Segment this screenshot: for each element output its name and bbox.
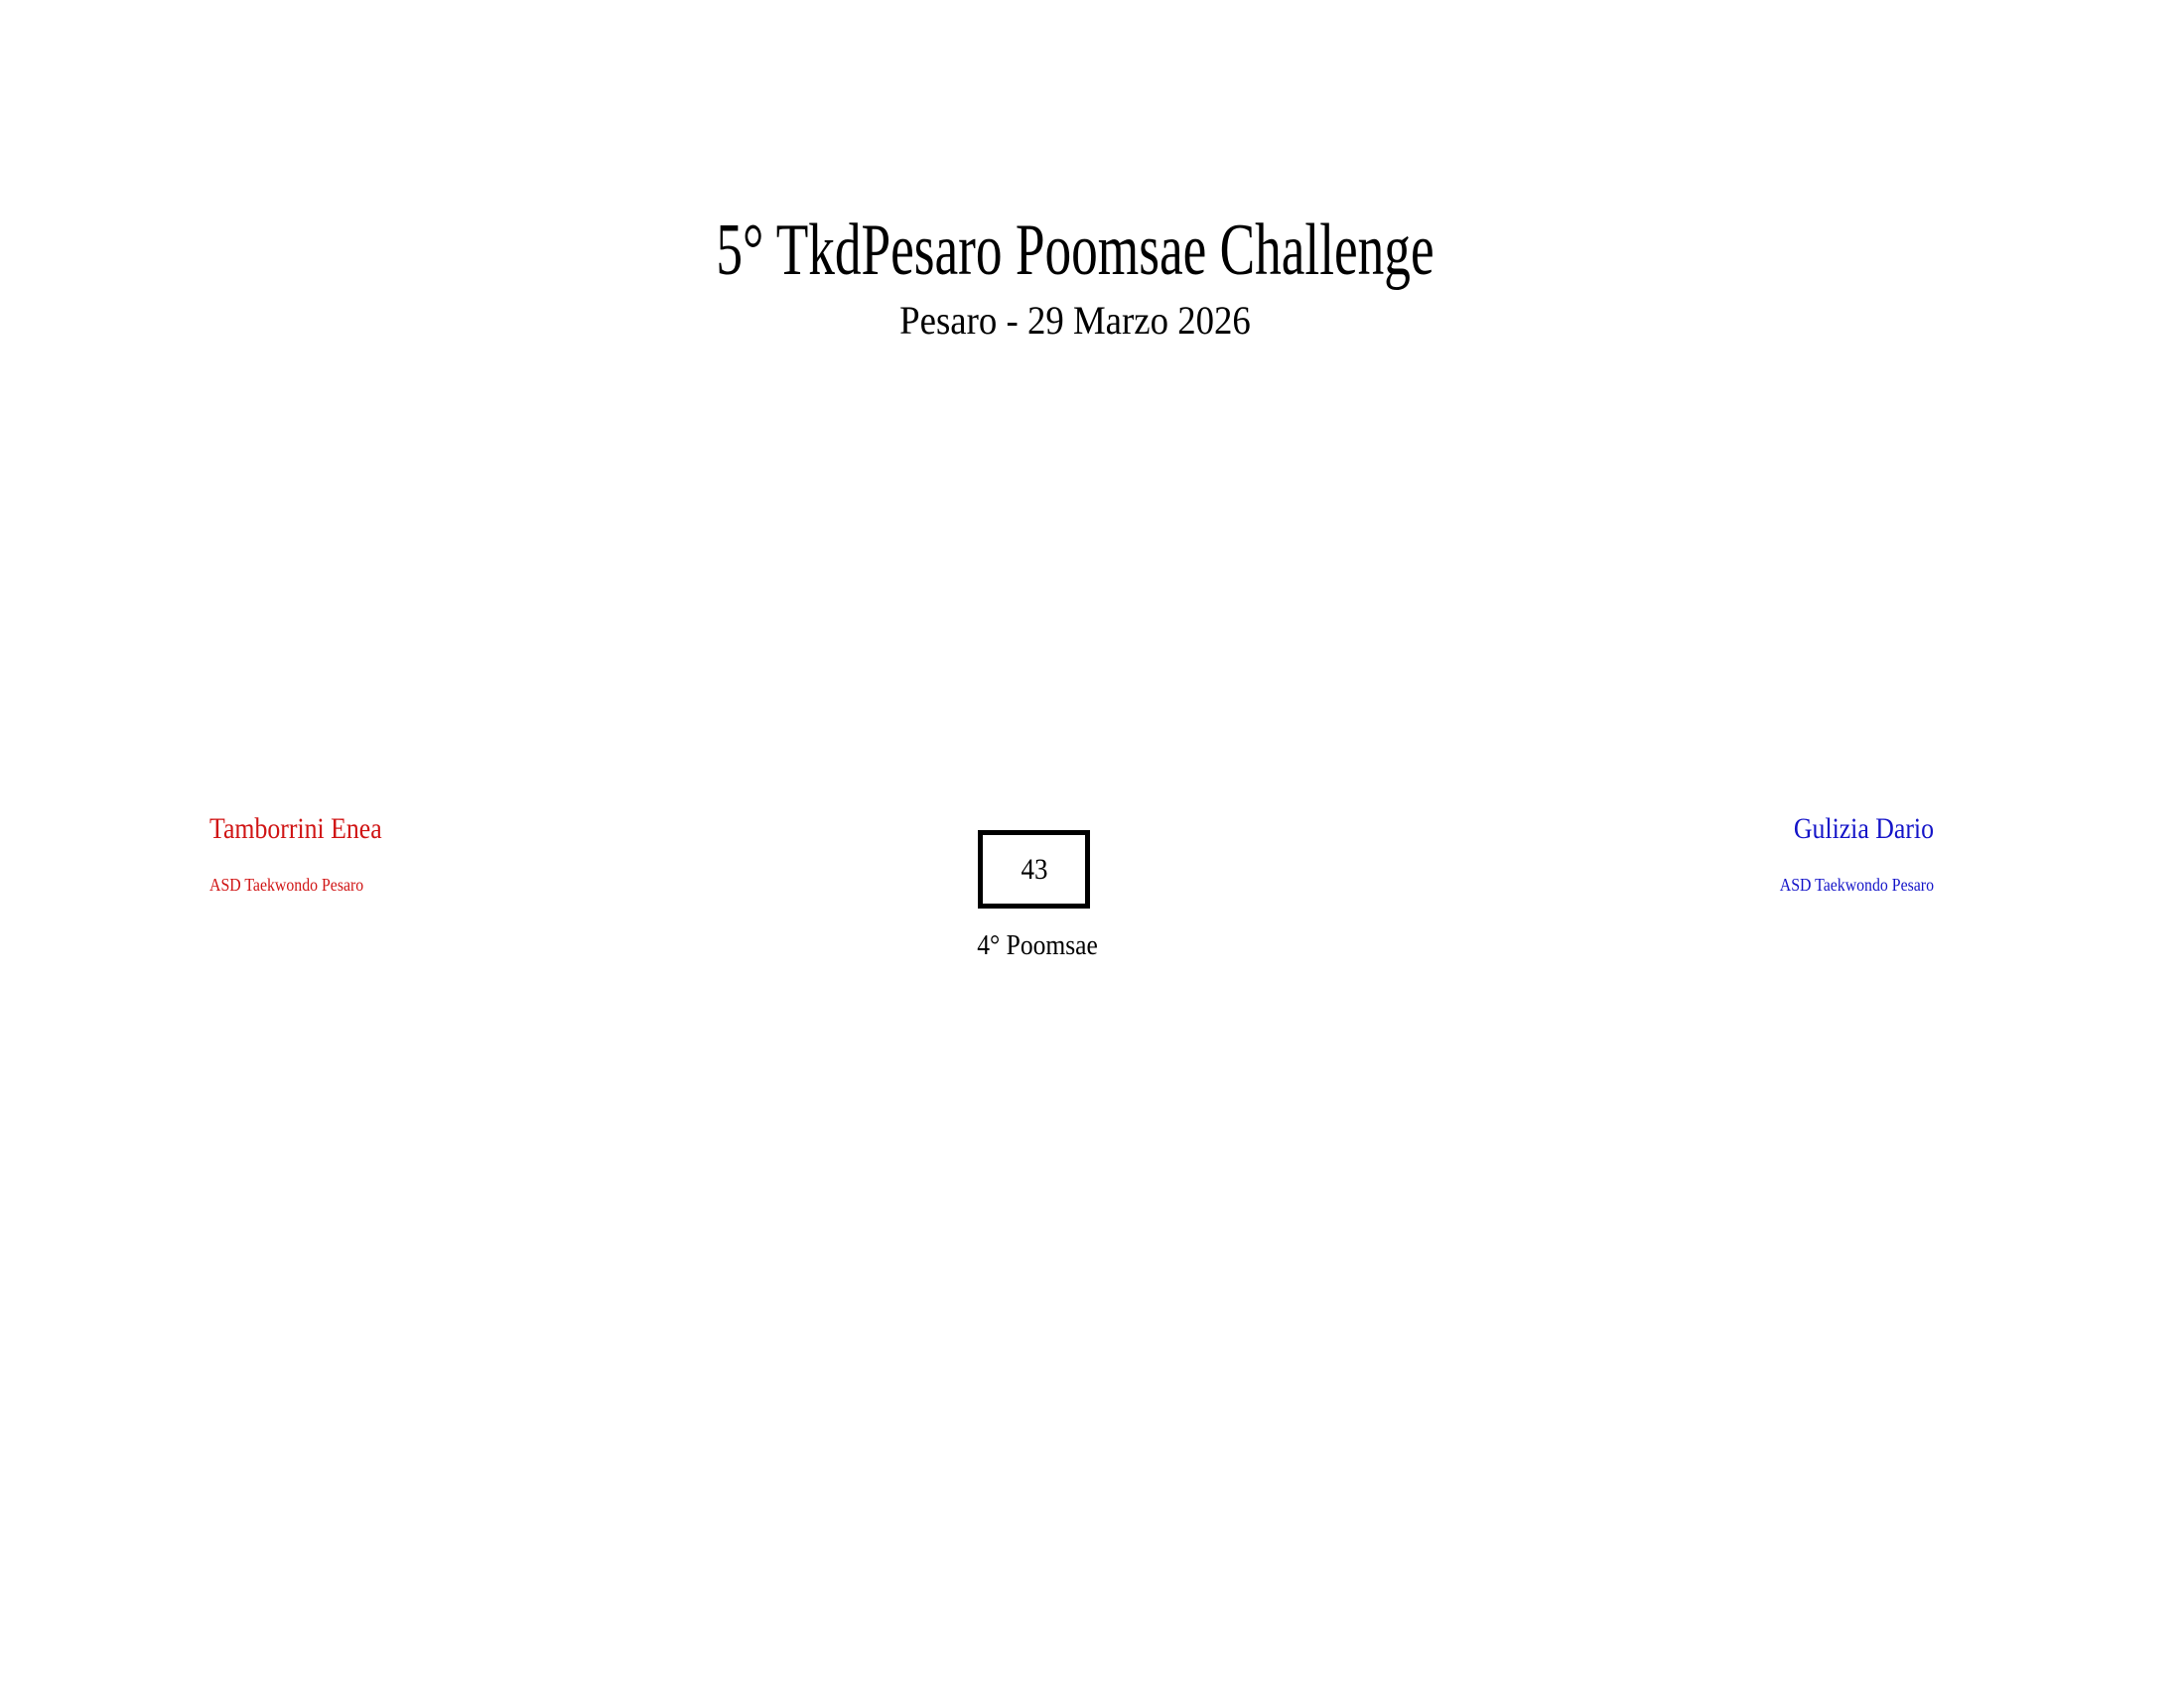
match-bracket: Tamborrini Enea ASD Taekwondo Pesaro Gul… <box>0 0 2184 1688</box>
match-box[interactable]: 43 <box>978 830 1090 909</box>
bracket-page: 5° TkdPesaro Poomsae Challenge Pesaro - … <box>0 0 2184 1688</box>
red-competitor-club: ASD Taekwondo Pesaro <box>209 874 890 896</box>
red-competitor[interactable]: Tamborrini Enea ASD Taekwondo Pesaro <box>209 812 984 846</box>
match-number: 43 <box>1021 855 1047 885</box>
red-competitor-name: Tamborrini Enea <box>209 812 876 846</box>
blue-competitor-name: Gulizia Dario <box>1268 812 1934 846</box>
blue-competitor[interactable]: Gulizia Dario ASD Taekwondo Pesaro <box>1160 812 1934 846</box>
match-category-label: 4° Poomsae <box>977 928 1097 962</box>
match-category: 4° Poomsae <box>849 928 1226 962</box>
blue-competitor-club: ASD Taekwondo Pesaro <box>1253 874 1934 896</box>
